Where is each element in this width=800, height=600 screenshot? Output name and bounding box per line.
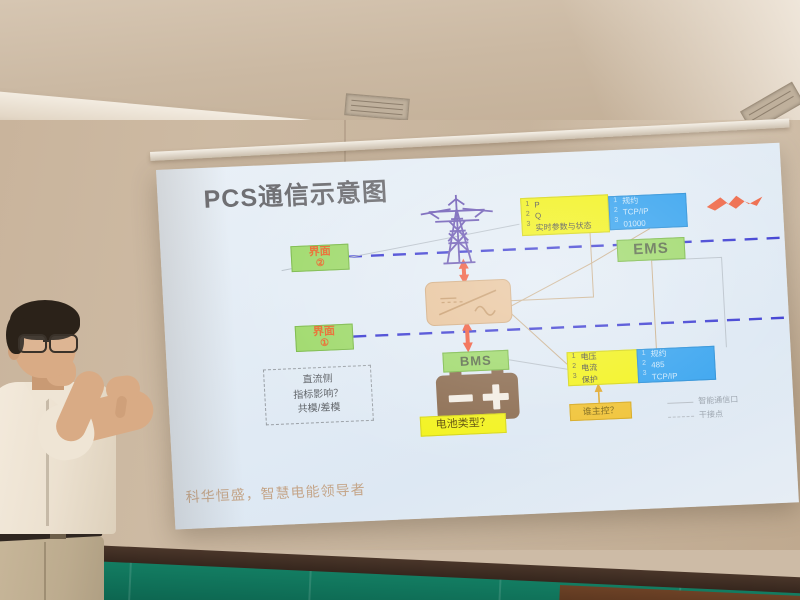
pcs-converter-icon xyxy=(424,279,512,327)
pcs-bms-protocol-box[interactable]: 1 2 3 规约 485 TCP/IP xyxy=(636,346,716,383)
protocol-values: 规约 TCP/IP 01000 xyxy=(622,195,650,230)
bms-box[interactable]: BMS xyxy=(442,350,509,373)
bms-param-numbers: 1 2 3 xyxy=(571,352,577,386)
interface-2-tag[interactable]: 界面 ② xyxy=(290,244,349,272)
glasses-icon xyxy=(18,334,80,350)
legend-solid-swatch xyxy=(667,401,693,403)
presenter-pants xyxy=(0,536,104,600)
bms-protocol-numbers: 1 2 3 xyxy=(641,349,647,383)
projection-screen: PCS通信示意图 xyxy=(156,143,799,530)
pcs-ems-params-box[interactable]: 1 2 3 P Q 实时参数与状态 xyxy=(520,194,610,236)
diagram-legend: 智能通信口 干接点 xyxy=(667,393,739,425)
interface-1-label: 界面 ① xyxy=(313,326,336,349)
param-numbers: 1 2 3 xyxy=(525,200,531,234)
transmission-tower-icon xyxy=(416,189,500,268)
bms-protocol-values: 规约 485 TCP/IP xyxy=(650,348,678,383)
interface-1-number: ① xyxy=(313,338,336,349)
ems-box[interactable]: EMS xyxy=(616,237,685,262)
presentation-slide: PCS通信示意图 xyxy=(156,143,799,530)
param-values: P Q 实时参数与状态 xyxy=(534,197,592,233)
pcs-ems-protocol-box[interactable]: 1 2 3 规约 TCP/IP 01000 xyxy=(608,193,688,230)
photo-scene: PCS通信示意图 xyxy=(0,0,800,600)
interface-2-number: ② xyxy=(309,258,332,269)
interface-2-text: 界面 xyxy=(308,245,331,258)
dc-note-line-1: 直流侧 xyxy=(302,373,333,389)
who-controls-box[interactable]: 谁主控？ xyxy=(569,401,632,421)
legend-label-smart-port: 智能通信口 xyxy=(698,393,739,409)
pcs-bms-params-box[interactable]: 1 2 3 电压 电流 保护 xyxy=(566,349,640,386)
diagram-canvas: 界面 ② 界面 ① EMS BMS 1 xyxy=(159,195,798,508)
protocol-numbers: 1 2 3 xyxy=(613,196,619,230)
presenter xyxy=(0,300,168,600)
interface-2-label: 界面 ② xyxy=(308,246,331,269)
dc-side-note: 直流侧 指标影响？ 共模/差模 xyxy=(263,365,374,426)
interface-1-tag[interactable]: 界面 ① xyxy=(295,324,354,352)
bms-param-values: 电压 电流 保护 xyxy=(580,351,598,385)
legend-dashed-swatch xyxy=(668,416,694,418)
dc-note-line-3: 共模/差模 xyxy=(297,401,341,417)
legend-label-dry-contact: 干接点 xyxy=(699,408,724,423)
battery-type-box[interactable]: 电池类型？ xyxy=(420,413,507,437)
slide-title: PCS通信示意图 xyxy=(203,172,389,216)
interface-1-text: 界面 xyxy=(313,325,336,338)
